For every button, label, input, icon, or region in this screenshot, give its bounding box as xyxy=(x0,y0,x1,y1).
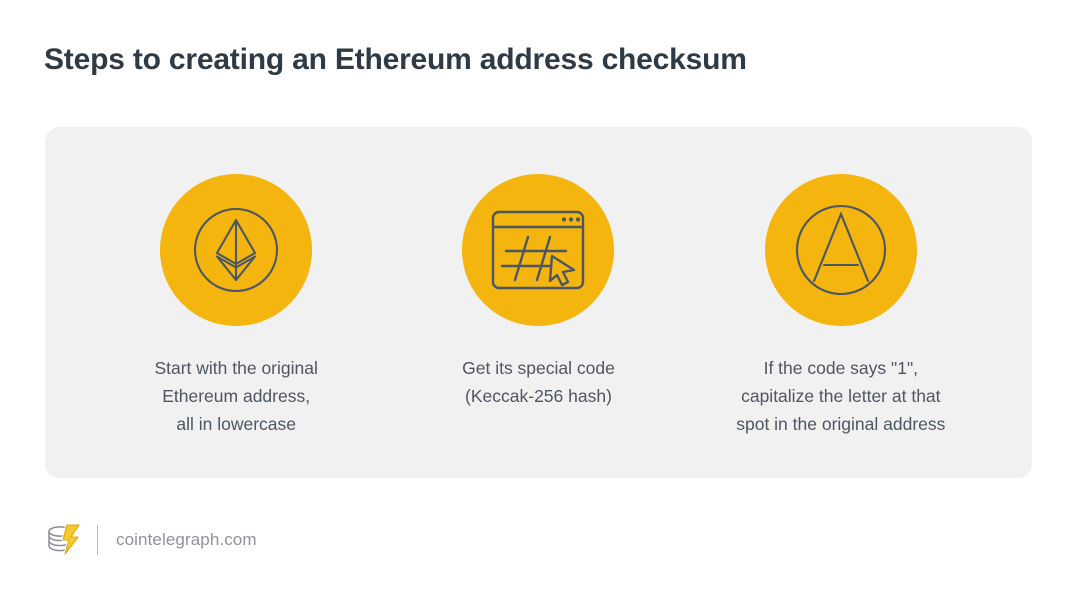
footer: cointelegraph.com xyxy=(44,518,257,562)
step-1-caption: Start with the original Ethereum address… xyxy=(154,354,317,438)
footer-site-label[interactable]: cointelegraph.com xyxy=(116,530,257,550)
step-2-icon-circle xyxy=(462,174,614,326)
step-3: If the code says "1", capitalize the let… xyxy=(690,174,992,438)
cointelegraph-coin-stack-logo[interactable] xyxy=(44,520,84,560)
step-1-icon-circle xyxy=(160,174,312,326)
ethereum-diamond-icon xyxy=(193,207,279,293)
steps-row: Start with the original Ethereum address… xyxy=(45,127,1032,478)
page-title: Steps to creating an Ethereum address ch… xyxy=(44,40,747,80)
steps-card: Start with the original Ethereum address… xyxy=(45,127,1032,478)
infographic-page: Steps to creating an Ethereum address ch… xyxy=(0,0,1076,600)
step-2: Get its special code (Keccak-256 hash) xyxy=(387,174,689,410)
letter-a-circle-icon xyxy=(794,203,888,297)
step-3-caption: If the code says "1", capitalize the let… xyxy=(736,354,945,438)
browser-hash-cursor-icon xyxy=(490,206,586,294)
step-2-caption: Get its special code (Keccak-256 hash) xyxy=(462,354,615,410)
footer-divider xyxy=(97,525,98,555)
step-1: Start with the original Ethereum address… xyxy=(85,174,387,438)
step-3-icon-circle xyxy=(765,174,917,326)
